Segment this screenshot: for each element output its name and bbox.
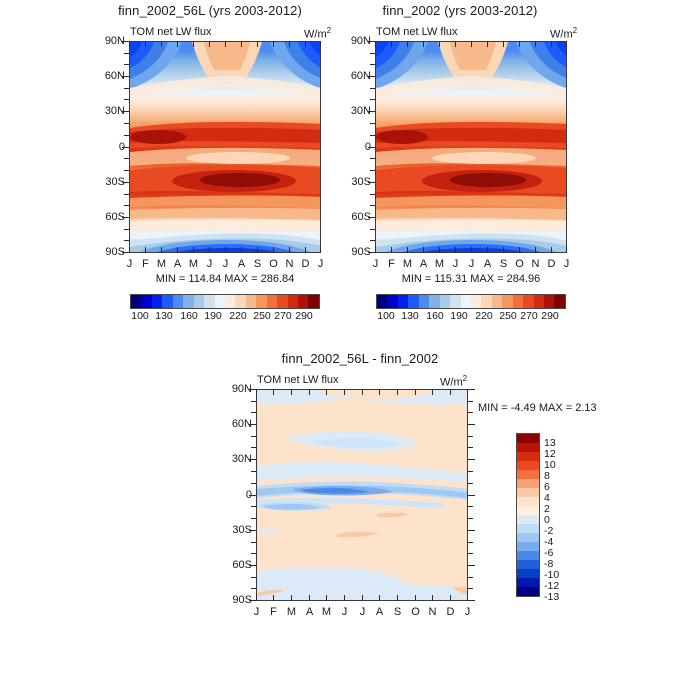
colorbar-label: 160 (177, 310, 201, 322)
panel-top-right-variable-label: TOM net LW flux (376, 26, 458, 38)
y-tick-label: 60N (93, 70, 125, 82)
x-tick-label: N (282, 258, 297, 270)
x-tick-label: J (355, 606, 370, 618)
x-tick-label: A (416, 258, 431, 270)
x-tick-label: D (443, 606, 458, 618)
colorbar-segment (517, 560, 539, 569)
colorbar-segment (429, 295, 439, 308)
y-tick-label: 90S (93, 246, 125, 258)
colorbar-label: 100 (128, 310, 152, 322)
colorbar-segment (517, 461, 539, 470)
y-tick-label: 90N (339, 35, 371, 47)
colorbar-segment (517, 506, 539, 515)
unit-text: W/m (550, 29, 573, 41)
y-tick-label: 0 (220, 489, 252, 501)
x-tick-label: J (313, 258, 328, 270)
colorbar-segment (517, 452, 539, 461)
x-tick-label: A (480, 258, 495, 270)
x-tick-label: J (249, 606, 264, 618)
panel-top-left-contour-field (130, 42, 321, 253)
x-tick-label: S (390, 606, 405, 618)
colorbar-label: 290 (538, 310, 562, 322)
colorbar-segment (267, 295, 277, 308)
y-tick-label: 90N (220, 383, 252, 395)
x-tick-label: O (408, 606, 423, 618)
colorbar-segment (461, 295, 471, 308)
colorbar-segment (450, 295, 460, 308)
colorbar-segment (517, 434, 539, 443)
colorbar-segment (517, 569, 539, 578)
colorbar-segment (517, 515, 539, 524)
panel-bottom-diff-unit-label: W/m2 (440, 374, 467, 389)
panel-bottom-diff-plot-area (256, 389, 468, 601)
panel-top-right-title: finn_2002 (yrs 2003-2012) (335, 3, 585, 18)
colorbar-segment (204, 295, 214, 308)
colorbar-top-right-strip (376, 294, 566, 309)
y-tick-label: 60N (339, 70, 371, 82)
colorbar-segment (471, 295, 481, 308)
colorbar-segment (173, 295, 183, 308)
colorbar-bottom-diff-strip (516, 433, 540, 597)
panel-top-left-variable-label: TOM net LW flux (130, 26, 212, 38)
colorbar-segment (481, 295, 491, 308)
panel-bottom-diff-contour-field (257, 390, 468, 601)
colorbar-segment (517, 578, 539, 587)
y-tick-label: 60N (220, 418, 252, 430)
y-tick-label: 30N (93, 105, 125, 117)
x-tick-label: F (138, 258, 153, 270)
x-tick-label: J (122, 258, 137, 270)
colorbar-label: 160 (423, 310, 447, 322)
x-tick-label: A (302, 606, 317, 618)
x-tick-label: J (559, 258, 574, 270)
colorbar-segment (440, 295, 450, 308)
y-tick-label: 30S (339, 176, 371, 188)
colorbar-segment (523, 295, 533, 308)
panel-bottom-diff-minmax: MIN = -4.49 MAX = 2.13 (478, 402, 628, 414)
x-tick-label: J (337, 606, 352, 618)
colorbar-segment (131, 295, 141, 308)
colorbar-segment (387, 295, 397, 308)
x-tick-label: J (218, 258, 233, 270)
colorbar-segment (141, 295, 151, 308)
y-tick-label: 0 (339, 141, 371, 153)
unit-exponent: 2 (463, 374, 467, 383)
x-tick-label: M (432, 258, 447, 270)
x-tick-label: M (400, 258, 415, 270)
unit-exponent: 2 (573, 26, 577, 35)
y-tick-label: 30N (339, 105, 371, 117)
colorbar-segment (544, 295, 554, 308)
colorbar-segment (492, 295, 502, 308)
colorbar-label: 190 (201, 310, 225, 322)
x-tick-label: M (186, 258, 201, 270)
x-tick-label: D (544, 258, 559, 270)
unit-text: W/m (304, 29, 327, 41)
y-tick-label: 60S (220, 559, 252, 571)
x-tick-label: N (425, 606, 440, 618)
colorbar-segment (517, 551, 539, 560)
colorbar-segment (152, 295, 162, 308)
x-tick-label: M (154, 258, 169, 270)
x-tick-label: J (448, 258, 463, 270)
panel-top-left-minmax: MIN = 114.84 MAX = 286.84 (130, 273, 320, 285)
panel-bottom-diff-variable-label: TOM net LW flux (257, 374, 339, 386)
colorbar-top-left-strip (130, 294, 320, 309)
x-tick-label: O (512, 258, 527, 270)
colorbar-label: 290 (292, 310, 316, 322)
x-tick-label: M (284, 606, 299, 618)
figure-root: { "figure": { "width": 700, "height": 70… (0, 0, 700, 700)
colorbar-segment (162, 295, 172, 308)
x-tick-label: S (496, 258, 511, 270)
colorbar-segment (517, 470, 539, 479)
colorbar-segment (517, 488, 539, 497)
panel-top-right-minmax: MIN = 115.31 MAX = 284.96 (376, 273, 566, 285)
y-tick-label: 60S (339, 211, 371, 223)
x-tick-label: F (266, 606, 281, 618)
x-tick-label: D (298, 258, 313, 270)
x-tick-label: N (528, 258, 543, 270)
x-tick-label: A (372, 606, 387, 618)
colorbar-segment (517, 497, 539, 506)
colorbar-segment (502, 295, 512, 308)
colorbar-segment (308, 295, 318, 308)
x-tick-label: A (170, 258, 185, 270)
colorbar-segment (288, 295, 298, 308)
colorbar-segment (517, 479, 539, 488)
colorbar-segment (419, 295, 429, 308)
x-tick-label: J (464, 258, 479, 270)
colorbar-segment (183, 295, 193, 308)
panel-top-left-unit-label: W/m2 (304, 26, 331, 41)
colorbar-label: 220 (472, 310, 496, 322)
panel-bottom-diff-title: finn_2002_56L - finn_2002 (235, 351, 485, 366)
colorbar-segment (277, 295, 287, 308)
y-tick-label: 90S (339, 246, 371, 258)
colorbar-label: -13 (544, 591, 559, 603)
x-tick-label: J (368, 258, 383, 270)
panel-top-right-contour-field (376, 42, 567, 253)
colorbar-segment (517, 524, 539, 533)
x-tick-label: M (319, 606, 334, 618)
x-tick-label: S (250, 258, 265, 270)
colorbar-segment (225, 295, 235, 308)
y-tick-label: 30S (93, 176, 125, 188)
x-tick-label: J (202, 258, 217, 270)
panel-top-right-plot-area (375, 41, 567, 253)
colorbar-label: 130 (398, 310, 422, 322)
x-tick-label: F (384, 258, 399, 270)
x-tick-label: J (460, 606, 475, 618)
colorbar-segment (398, 295, 408, 308)
colorbar-segment (298, 295, 308, 308)
colorbar-segment (534, 295, 544, 308)
y-tick-label: 90S (220, 594, 252, 606)
colorbar-label: 190 (447, 310, 471, 322)
y-tick-label: 90N (93, 35, 125, 47)
y-tick-label: 0 (93, 141, 125, 153)
colorbar-segment (513, 295, 523, 308)
panel-top-right-unit-label: W/m2 (550, 26, 577, 41)
y-tick-label: 30N (220, 453, 252, 465)
panel-top-left-plot-area (129, 41, 321, 253)
colorbar-segment (517, 533, 539, 542)
y-tick-label: 60S (93, 211, 125, 223)
colorbar-segment (235, 295, 245, 308)
colorbar-segment (554, 295, 564, 308)
colorbar-segment (517, 542, 539, 551)
y-tick-label: 30S (220, 524, 252, 536)
colorbar-segment (517, 443, 539, 452)
colorbar-segment (517, 587, 539, 596)
panel-top-left-title: finn_2002_56L (yrs 2003-2012) (85, 3, 335, 18)
x-tick-label: A (234, 258, 249, 270)
colorbar-segment (256, 295, 266, 308)
unit-text: W/m (440, 377, 463, 389)
colorbar-segment (377, 295, 387, 308)
unit-exponent: 2 (327, 26, 331, 35)
x-tick-label: O (266, 258, 281, 270)
colorbar-label: 100 (374, 310, 398, 322)
colorbar-segment (408, 295, 418, 308)
colorbar-segment (246, 295, 256, 308)
colorbar-label: 130 (152, 310, 176, 322)
colorbar-segment (194, 295, 204, 308)
colorbar-segment (215, 295, 225, 308)
colorbar-label: 220 (226, 310, 250, 322)
